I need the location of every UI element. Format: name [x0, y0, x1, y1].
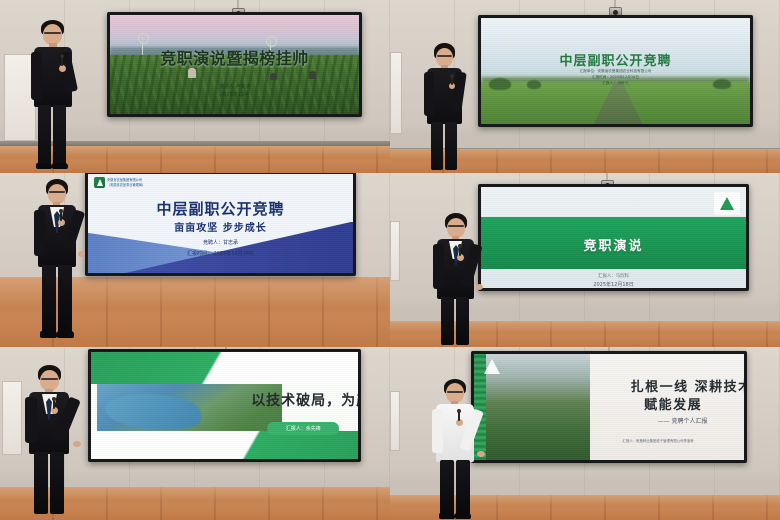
slide-date-line: 2025年12月18日 [593, 281, 633, 288]
leg-left [441, 297, 454, 345]
field-worker [188, 68, 196, 78]
arm-left [433, 244, 444, 289]
microphone [61, 56, 63, 66]
logo-mark-icon [720, 197, 734, 210]
hand-gesture [476, 284, 483, 290]
leg-left [38, 105, 51, 165]
glasses-icon [44, 32, 61, 34]
presenter [432, 213, 482, 346]
presenter [32, 179, 84, 345]
slide-candidate-line: 竞聘人：甘志承 [203, 239, 238, 246]
arm-left [424, 72, 434, 116]
slide-3: 安徽省农垦集团有限公司（安徽省农垦事业管理局） 中层副职公开竞聘 亩亩攻坚 步步… [88, 174, 353, 273]
slide-1: 竞职演说暨揭榜挂帅 演讲人 卢良涛 2025年12月 [110, 15, 359, 114]
head [43, 24, 62, 45]
leg-right [53, 105, 66, 165]
slide-title: 中层副职公开竞聘 [559, 50, 671, 69]
panel-4: 竞职演说 汇报人：马欣科 2025年12月18日 [390, 173, 780, 347]
slide-title: 竞职演说 [583, 235, 643, 254]
slide-unit-line: 汇报单位：安徽省农垦集团农业科技有限公司 [580, 69, 652, 74]
head [40, 370, 59, 391]
panel-3: 安徽省农垦集团有限公司（安徽省农垦事业管理局） 中层副职公开竞聘 亩亩攻坚 步步… [0, 173, 390, 347]
tree [527, 80, 541, 89]
glasses-icon [447, 391, 463, 393]
head [48, 184, 66, 204]
logo-mark-icon [484, 359, 500, 374]
presenter [28, 20, 78, 172]
slide-presenter-line: 汇报人：皖垦种业集团淮干管理有限公司李宝奇 [623, 438, 694, 443]
panel-2: 中层副职公开竞聘 汇报单位：安徽省农垦集团农业科技有限公司 汇报时间：2025年… [390, 0, 780, 173]
slide-time-line: 汇报时间：2025年12月18日 [592, 75, 639, 80]
head [447, 218, 465, 238]
hand [59, 65, 66, 72]
arm-left [432, 409, 443, 453]
slide-title: 竞职演说暨揭榜挂帅 [160, 45, 309, 69]
panel-1: 竞职演说暨揭榜挂帅 演讲人 卢良涛 2025年12月 [0, 0, 390, 173]
cabinet [390, 221, 400, 281]
slide-title-line1: 扎根一线 深耕技术 [631, 376, 744, 395]
led-screen: 以技术破局，为产业增效 汇报人：余先锋 [88, 349, 361, 462]
glasses-icon [437, 55, 452, 57]
led-screen: 竞职演说 汇报人：马欣科 2025年12月18日 [478, 184, 749, 291]
presenter [430, 379, 484, 520]
led-screen: 竞职演说暨揭榜挂帅 演讲人 卢良涛 2025年12月 [107, 12, 362, 117]
led-screen: 中层副职公开竞聘 汇报单位：安徽省农垦集团农业科技有限公司 汇报时间：2025年… [478, 15, 753, 127]
slide-presenter-line: 演讲人 卢良涛 [219, 83, 251, 90]
led-screen: 扎根一线 深耕技术 赋能发展 —— 竞聘个人汇报 汇报人：皖垦种业集团淮干管理有… [471, 351, 747, 463]
glasses-icon [448, 225, 464, 227]
shoe-right [52, 163, 68, 169]
tree [713, 79, 731, 89]
company-logo [714, 192, 740, 215]
slide-date-line: 2025年12月 [220, 91, 249, 98]
hand-gesture [477, 451, 485, 457]
presenter [22, 365, 80, 520]
arm-left [34, 210, 45, 256]
arm-left [31, 52, 42, 100]
leg-right [50, 452, 64, 514]
microphone [459, 246, 461, 256]
led-screen: 安徽省农垦集团有限公司（安徽省农垦事业管理局） 中层副职公开竞聘 亩亩攻坚 步步… [85, 173, 356, 276]
field-worker [309, 71, 316, 79]
slide-6: 扎根一线 深耕技术 赋能发展 —— 竞聘个人汇报 汇报人：皖垦种业集团淮干管理有… [474, 354, 744, 460]
leg-right [456, 460, 470, 515]
slide-2: 中层副职公开竞聘 汇报单位：安徽省农垦集团农业科技有限公司 汇报时间：2025年… [481, 18, 750, 124]
presenter-badge: 汇报人：余先锋 [267, 422, 339, 435]
leg-left [431, 122, 443, 170]
shoe-left [439, 513, 455, 519]
tree [489, 78, 511, 90]
slide-4: 竞职演说 汇报人：马欣科 2025年12月18日 [481, 187, 746, 288]
shoe-right [455, 513, 471, 519]
leg-left [34, 452, 48, 514]
slide-subtitle: —— 竞聘个人汇报 [658, 416, 708, 425]
shoe-left [36, 163, 52, 169]
leg-left [42, 265, 56, 333]
slide-5: 以技术破局，为产业增效 汇报人：余先锋 [91, 352, 358, 459]
hand-gesture [73, 441, 81, 447]
leg-left [440, 460, 454, 515]
slide-title-line2: 赋能发展 [644, 394, 702, 413]
cabinet [2, 381, 22, 455]
field-worker [270, 73, 277, 80]
field-photo [486, 354, 590, 460]
leg-right [456, 297, 469, 345]
leg-right [58, 265, 72, 333]
arm-left [25, 397, 37, 443]
presenter [422, 43, 470, 173]
panel-5: 以技术破局，为产业增效 汇报人：余先锋 [0, 347, 390, 520]
cabinet [390, 391, 400, 451]
microphone [458, 411, 460, 421]
photo-grid: 竞职演说暨揭榜挂帅 演讲人 卢良涛 2025年12月 [0, 0, 780, 520]
logo-text: 安徽省农垦集团有限公司（安徽省农垦事业管理局） [107, 178, 145, 186]
slide-presenter-line: 汇报人： 孙叶凡 [602, 81, 628, 86]
logo-mark-icon [94, 177, 105, 188]
head [446, 383, 464, 403]
slide-subtitle: 亩亩攻坚 步步成长 [174, 219, 266, 234]
company-logo: 安徽省农垦集团有限公司（安徽省农垦事业管理局） [94, 177, 145, 188]
shoe-left [40, 331, 57, 338]
shoe-right [57, 331, 74, 338]
glasses-icon [41, 378, 58, 380]
glasses-icon [49, 191, 65, 193]
panel-6: 扎根一线 深耕技术 赋能发展 —— 竞聘个人汇报 汇报人：皖垦种业集团淮干管理有… [390, 347, 780, 520]
cabinet [390, 52, 402, 134]
microphone [451, 76, 453, 85]
slide-presenter-line: 汇报人：马欣科 [598, 273, 629, 279]
hand-gesture [78, 251, 85, 257]
slide-time-line: 汇报时间： 2025年12月18日 [187, 250, 254, 257]
microphone [60, 211, 62, 221]
slide-title: 中层副职公开竞聘 [156, 198, 284, 219]
microphone [53, 399, 55, 409]
slide-title: 以技术破局，为产业增效 [251, 390, 358, 410]
leg-right [445, 122, 457, 170]
